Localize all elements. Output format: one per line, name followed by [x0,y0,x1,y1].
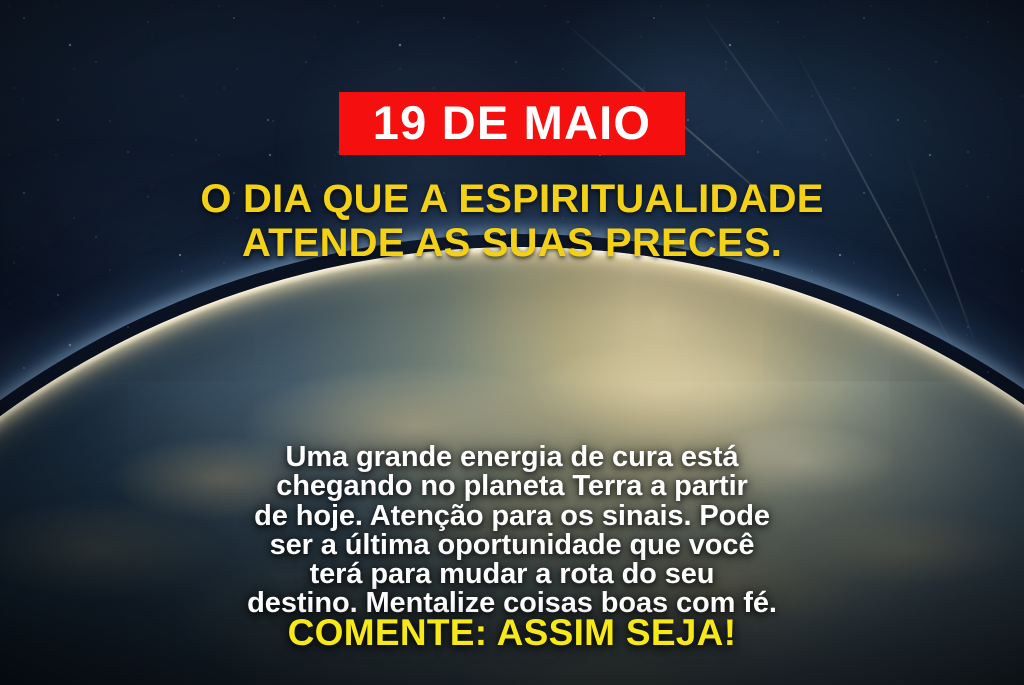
headline-line-2: ATENDE AS SUAS PRECES. [62,221,962,265]
headline: O DIA QUE A ESPIRITUALIDADE ATENDE AS SU… [62,177,962,265]
call-to-action-text: COMENTE: ASSIM SEJA! [288,612,737,654]
body-line-2: chegando no planeta Terra a partir [67,472,957,501]
body-line-5: terá para mudar a rota do seu [67,560,957,589]
poster-content: 19 DE MAIO O DIA QUE A ESPIRITUALIDADE A… [0,0,1024,685]
body-line-3: de hoje. Atenção para os sinais. Pode [67,502,957,531]
date-banner-text: 19 DE MAIO [373,99,651,146]
body-line-4: ser a última oportunidade que você [67,531,957,560]
poster-canvas: 19 DE MAIO O DIA QUE A ESPIRITUALIDADE A… [0,0,1024,685]
body-line-1: Uma grande energia de cura está [67,443,957,472]
headline-line-1: O DIA QUE A ESPIRITUALIDADE [62,177,962,221]
body-paragraph: Uma grande energia de cura está chegando… [67,443,957,619]
date-banner: 19 DE MAIO [339,92,685,155]
